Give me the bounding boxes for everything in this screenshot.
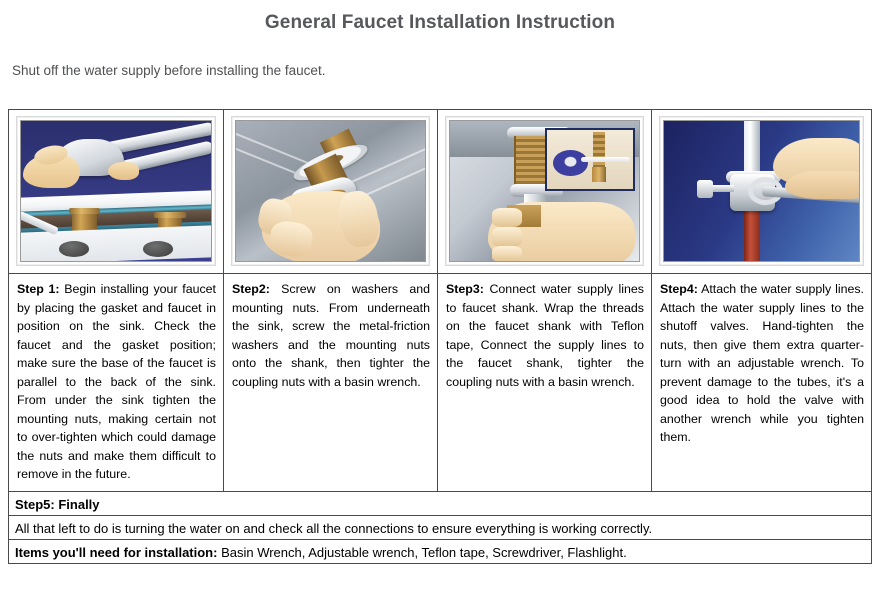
step-text-step-1: Step 1: Begin installing your faucet by … [9, 274, 224, 491]
teflon-tape-on-shank-illustration [449, 120, 640, 262]
inset-threaded-shank-icon [593, 132, 604, 169]
items-needed: Items you'll need for installation: Basi… [9, 540, 871, 563]
photo-frame-step-4 [659, 116, 864, 266]
photo-frame-step-2 [231, 116, 430, 266]
page-title: General Faucet Installation Instruction [0, 11, 880, 35]
final-step-row: Step5: Finally [9, 492, 871, 516]
knuckle-icon-3 [492, 246, 522, 262]
illustration-row [9, 110, 871, 274]
step-body-3: Connect water supply lines to faucet sha… [446, 282, 644, 389]
step-text-step-4: Step4: Attach the water supply lines. At… [652, 274, 871, 491]
illustration-cell-step-2 [224, 110, 438, 273]
step-label-1: Step 1: [17, 282, 60, 296]
inset-brass-shank-icon [592, 167, 606, 182]
fingers-icon [785, 171, 860, 199]
items-needed-list: Basin Wrench, Adjustable wrench, Teflon … [217, 545, 626, 560]
instruction-table: Step 1: Begin installing your faucet by … [8, 109, 872, 564]
step-text-row: Step 1: Begin installing your faucet by … [9, 274, 871, 492]
step-label-2: Step2: [232, 282, 270, 296]
teflon-tape-roll-icon [553, 150, 588, 176]
cabinet-knob-left-icon [59, 241, 89, 256]
illustration-cell-step-4 [652, 110, 871, 273]
wrench-on-shutoff-valve-illustration [663, 120, 860, 262]
step-label-4: Step4: [660, 282, 698, 296]
knuckle-icon-1 [492, 208, 522, 228]
photo-frame-step-3 [445, 116, 644, 266]
step-body-4: Attach the water supply lines. Attach th… [660, 282, 864, 444]
knuckle-icon-2 [492, 227, 522, 247]
items-needed-row: Items you'll need for installation: Basi… [9, 540, 871, 563]
final-step-text: All that left to do is turning the water… [9, 516, 871, 539]
copper-pipe-icon [744, 208, 760, 262]
step-body-2: Screw on washers and mounting nuts. From… [232, 282, 430, 389]
step-label-3: Step3: [446, 282, 484, 296]
final-step-text-row: All that left to do is turning the water… [9, 516, 871, 540]
second-hand-icon [108, 162, 138, 180]
valve-handle-icon [697, 180, 713, 198]
faucet-placed-on-sink-illustration [20, 120, 212, 262]
cabinet-knob-right-icon [143, 241, 173, 256]
photo-frame-step-1 [16, 116, 216, 266]
step-text-step-2: Step2: Screw on washers and mounting nut… [224, 274, 438, 491]
items-needed-label: Items you'll need for installation: [15, 545, 217, 560]
step-text-step-3: Step3: Connect water supply lines to fau… [438, 274, 652, 491]
illustration-cell-step-1 [9, 110, 224, 273]
illustration-cell-step-3 [438, 110, 652, 273]
teflon-tape-strip-icon [581, 157, 630, 162]
step-body-1: Begin installing your faucet by placing … [17, 282, 216, 481]
intro-instruction: Shut off the water supply before install… [0, 35, 880, 79]
teflon-tape-inset-panel [545, 128, 636, 191]
screwing-mounting-nut-illustration [235, 120, 426, 262]
final-step-heading: Step5: Finally [9, 492, 871, 515]
